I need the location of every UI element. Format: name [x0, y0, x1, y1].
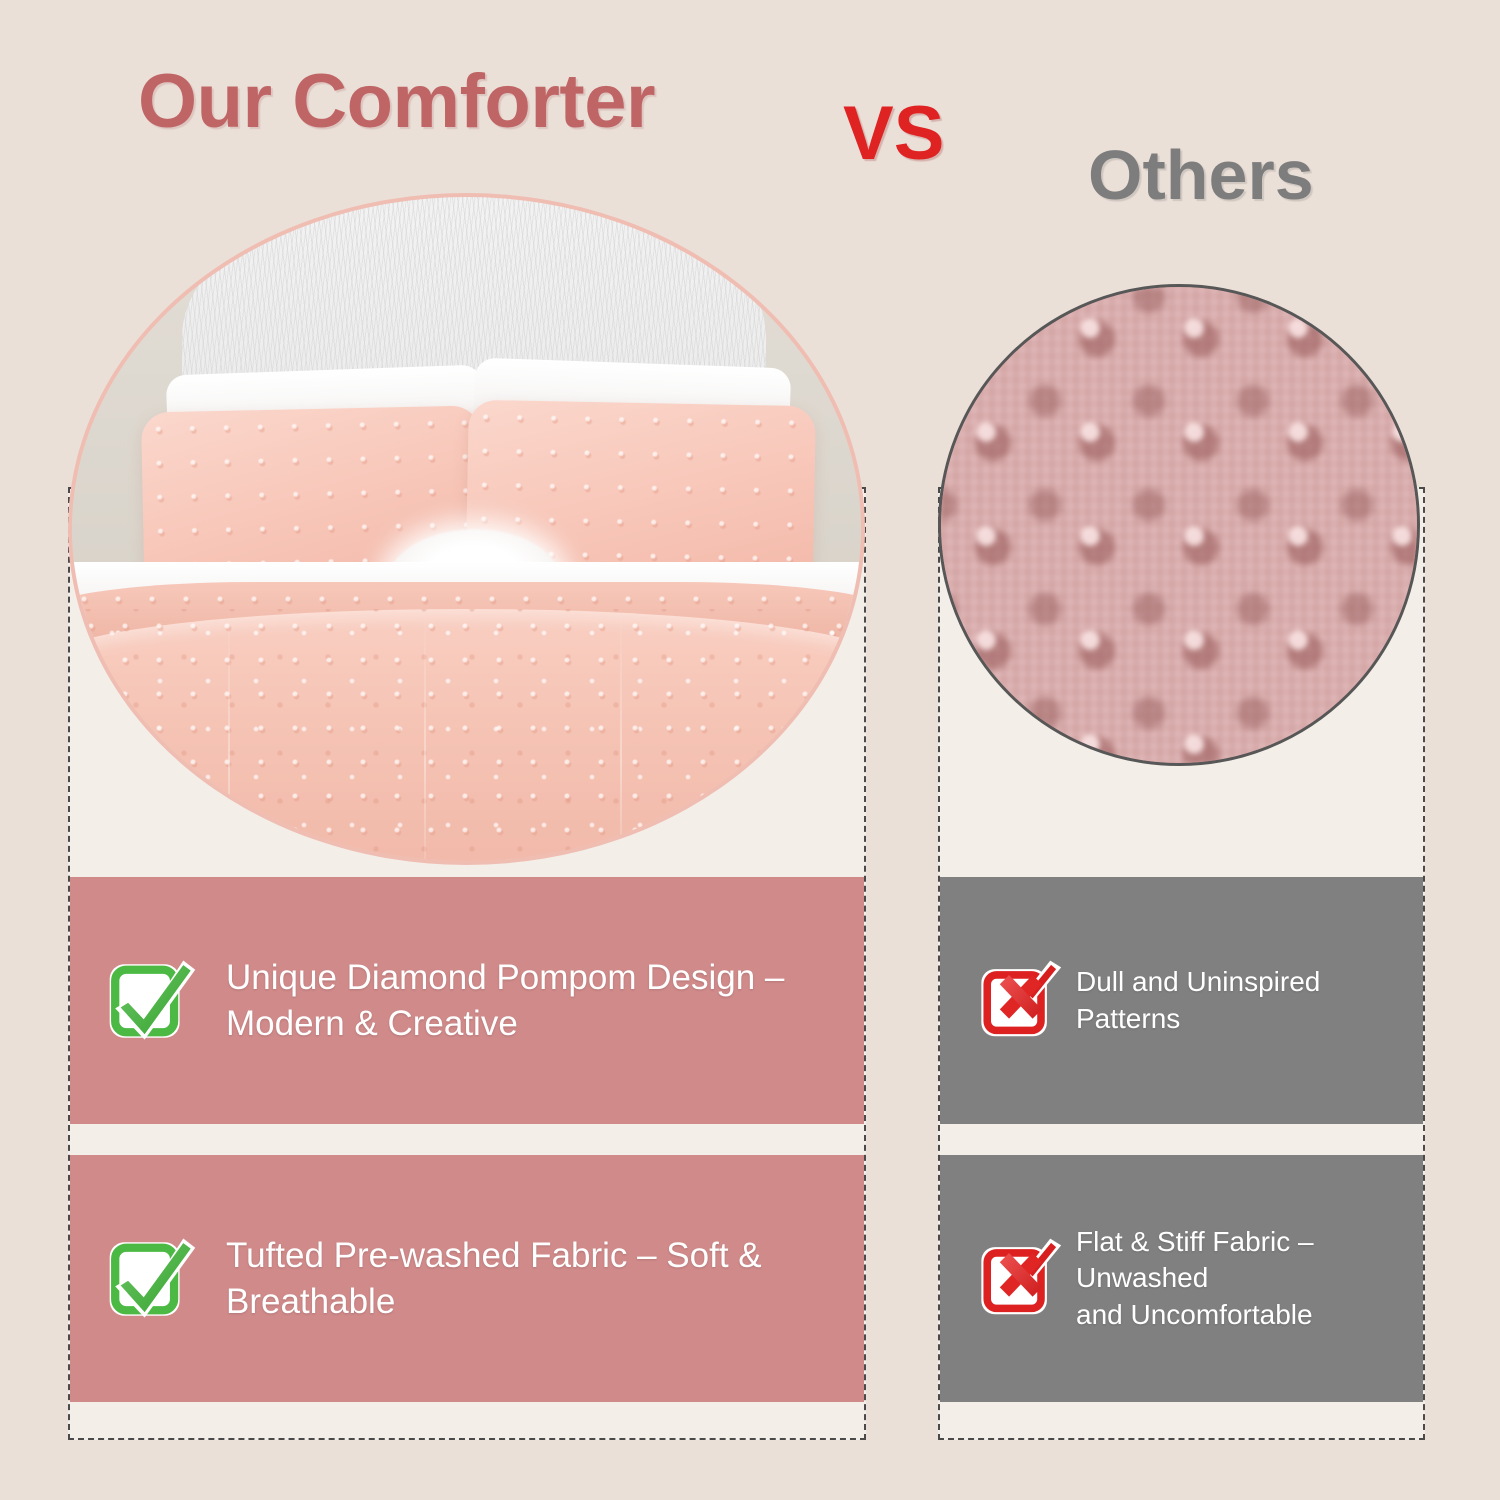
ours-feature-row-2: Tufted Pre-washed Fabric – Soft & Breath…: [70, 1155, 864, 1402]
fabric-crease: [620, 609, 622, 865]
ours-feature-text: Unique Diamond Pompom Design – Modern & …: [226, 955, 784, 1046]
others-feature-row-2: Flat & Stiff Fabric –Unwashed and Uncomf…: [940, 1155, 1423, 1402]
ours-feature-text: Tufted Pre-washed Fabric – Soft & Breath…: [226, 1233, 762, 1324]
vs-label: VS: [843, 90, 944, 177]
pompom-texture: [68, 609, 865, 865]
pink-comforter: [68, 609, 865, 865]
others-feature-text: Dull and Uninspired Patterns: [1076, 964, 1320, 1037]
blurry-fabric-texture-overlay: [941, 287, 1417, 763]
others-title: Others: [1088, 135, 1314, 215]
header: Our Comforter VS Others: [0, 0, 1500, 230]
others-feature-row-1: Dull and Uninspired Patterns: [940, 877, 1423, 1124]
others-feature-text: Flat & Stiff Fabric –Unwashed and Uncomf…: [1076, 1224, 1423, 1333]
fabric-crease: [424, 609, 426, 865]
fabric-crease: [228, 609, 230, 865]
red-cross-icon: [978, 1237, 1062, 1321]
red-cross-icon: [978, 959, 1062, 1043]
bed-scene: [72, 197, 861, 861]
green-check-icon: [106, 955, 198, 1047]
ours-feature-row-1: Unique Diamond Pompom Design – Modern & …: [70, 877, 864, 1124]
ours-title: Our Comforter: [138, 58, 655, 145]
ours-product-image: [68, 193, 865, 865]
others-product-image: [938, 284, 1420, 766]
green-check-icon: [106, 1233, 198, 1325]
